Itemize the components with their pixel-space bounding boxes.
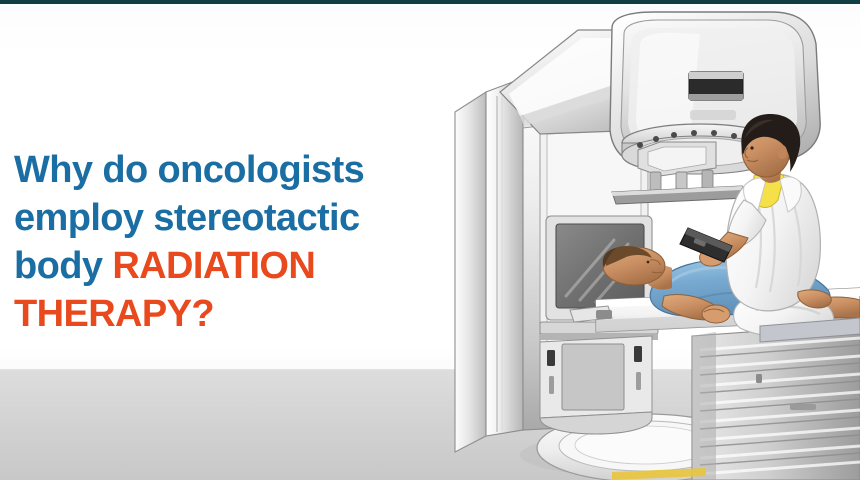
radiation-therapy-banner: Why do oncologists employ stereotactic b… <box>0 0 860 480</box>
background-floor <box>0 370 860 480</box>
headline-line-2: employ stereotactic <box>14 197 360 239</box>
headline-line-1: Why do oncologists <box>14 149 364 191</box>
top-accent-bar <box>0 0 860 4</box>
headline-line-3-accent: RADIATION <box>112 245 315 287</box>
page-title: Why do oncologists employ stereotactic b… <box>14 146 454 338</box>
headline-line-3-plain: body <box>14 245 112 287</box>
headline-line-4-accent: THERAPY? <box>14 293 214 335</box>
